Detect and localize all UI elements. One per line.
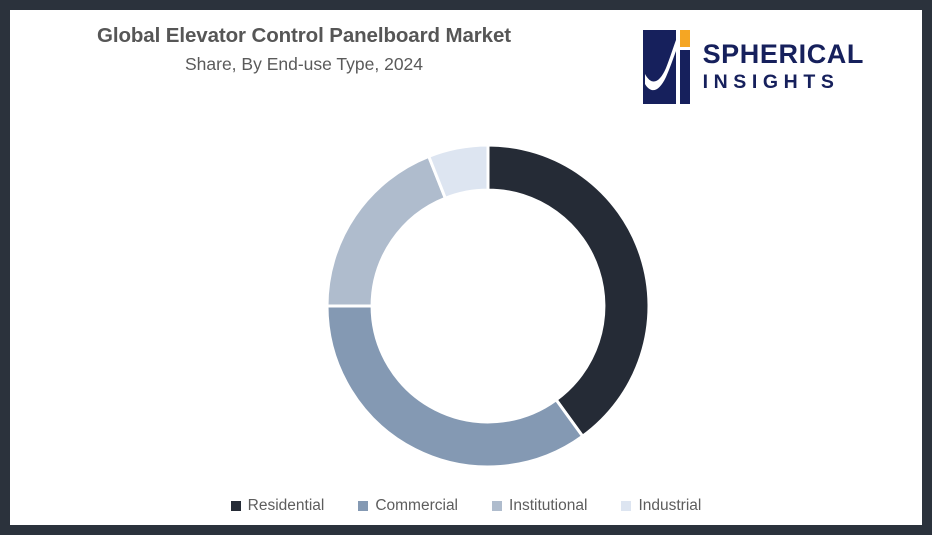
- donut-chart-svg: [308, 126, 668, 486]
- donut-slice-institutional[interactable]: [327, 156, 445, 306]
- donut-slice-commercial[interactable]: [327, 306, 583, 467]
- legend-item-institutional[interactable]: Institutional: [492, 497, 587, 515]
- legend-label: Industrial: [638, 497, 701, 515]
- image-frame: Global Elevator Control Panelboard Marke…: [0, 0, 932, 535]
- legend-item-residential[interactable]: Residential: [231, 497, 325, 515]
- logo-word-insights: INSIGHTS: [703, 71, 864, 93]
- chart-legend: ResidentialCommercialInstitutionalIndust…: [10, 497, 922, 515]
- chart-canvas: Global Elevator Control Panelboard Marke…: [10, 10, 922, 525]
- legend-swatch-icon: [358, 501, 368, 511]
- donut-chart: [308, 126, 668, 486]
- logo-word-spherical: SPHERICAL: [703, 40, 864, 68]
- legend-label: Institutional: [509, 497, 587, 515]
- spherical-insights-logo-mark-icon: [643, 30, 690, 104]
- legend-item-commercial[interactable]: Commercial: [358, 497, 458, 515]
- legend-swatch-icon: [621, 501, 631, 511]
- page-title: Global Elevator Control Panelboard Marke…: [24, 24, 584, 49]
- brand-logo: SPHERICAL INSIGHTS: [643, 30, 864, 104]
- chart-subtitle: Share, By End-use Type, 2024: [24, 54, 584, 75]
- donut-slice-residential[interactable]: [488, 145, 649, 436]
- legend-swatch-icon: [231, 501, 241, 511]
- legend-label: Residential: [248, 497, 325, 515]
- logo-wordmark: SPHERICAL INSIGHTS: [703, 40, 864, 94]
- legend-item-industrial[interactable]: Industrial: [621, 497, 701, 515]
- legend-swatch-icon: [492, 501, 502, 511]
- title-block: Global Elevator Control Panelboard Marke…: [24, 24, 584, 75]
- donut-slice-group: [327, 145, 649, 467]
- legend-label: Commercial: [375, 497, 458, 515]
